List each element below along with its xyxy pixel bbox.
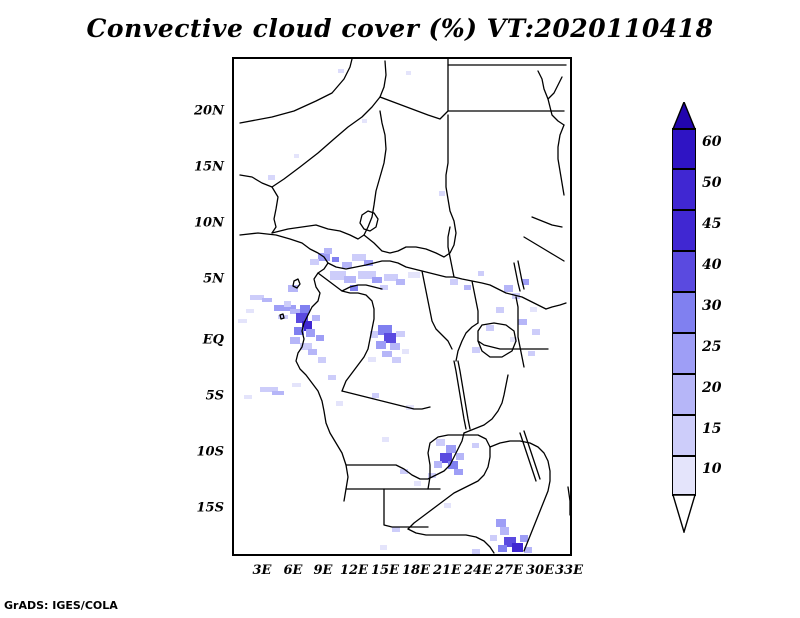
- colorbar-band-50-60: [672, 128, 696, 169]
- colorbar-tick-45: [672, 209, 696, 211]
- plot-frame: [232, 57, 572, 556]
- colorbar-band-below-10: [672, 456, 696, 496]
- x-tick-18e: 18E: [402, 563, 430, 578]
- map-plot-area: [232, 57, 572, 556]
- colorbar-tick-25: [672, 332, 696, 334]
- y-tick-15n: 15N: [178, 160, 224, 175]
- colorbar-band-25-30: [672, 292, 696, 333]
- colorbar-tick-10: [672, 455, 696, 457]
- y-tick-eq: EQ: [178, 333, 224, 348]
- colorbar-band-10-15: [672, 415, 696, 456]
- colorbar-label-25: 25: [702, 339, 721, 355]
- colorbar-label-50: 50: [702, 175, 721, 191]
- colorbar-bottom-arrow: [672, 495, 696, 533]
- colorbar-top-arrow: [672, 102, 696, 130]
- x-tick-3e: 3E: [253, 563, 272, 578]
- colorbar-band-40-45: [672, 210, 696, 251]
- colorbar-tick-50: [672, 168, 696, 170]
- y-tick-20n: 20N: [178, 104, 224, 119]
- y-tick-5s: 5S: [178, 389, 224, 404]
- x-tick-6e: 6E: [284, 563, 303, 578]
- colorbar-label-40: 40: [702, 257, 721, 273]
- x-tick-33e: 33E: [555, 563, 583, 578]
- y-tick-10n: 10N: [178, 216, 224, 231]
- colorbar-label-30: 30: [702, 298, 721, 314]
- colorbar-label-15: 15: [702, 421, 721, 437]
- colorbar-tick-15: [672, 414, 696, 416]
- x-tick-21e: 21E: [433, 563, 461, 578]
- grads-attribution: GrADS: IGES/COLA: [4, 599, 118, 612]
- x-tick-30e: 30E: [526, 563, 554, 578]
- colorbar-tick-60: [672, 128, 696, 130]
- y-tick-15s: 15S: [178, 501, 224, 516]
- colorbar-label-60: 60: [702, 134, 721, 150]
- y-tick-10s: 10S: [178, 445, 224, 460]
- x-tick-27e: 27E: [495, 563, 523, 578]
- colorbar-tick-40: [672, 250, 696, 252]
- x-tick-24e: 24E: [464, 563, 492, 578]
- colorbar-label-10: 10: [702, 461, 721, 477]
- colorbar-legend: 60 50 45 40 30 25 20 15 10: [672, 128, 696, 496]
- colorbar-band-15-20: [672, 374, 696, 415]
- colorbar-label-20: 20: [702, 380, 721, 396]
- colorbar-tick-30: [672, 291, 696, 293]
- colorbar-label-45: 45: [702, 216, 721, 232]
- x-tick-15e: 15E: [371, 563, 399, 578]
- page-title: Convective cloud cover (%) VT:2020110418: [0, 14, 800, 43]
- x-tick-9e: 9E: [314, 563, 333, 578]
- colorbar-band-45-50: [672, 169, 696, 210]
- colorbar-band-20-25: [672, 333, 696, 374]
- colorbar-band-30-40: [672, 251, 696, 292]
- x-tick-12e: 12E: [340, 563, 368, 578]
- colorbar-tick-20: [672, 373, 696, 375]
- y-tick-5n: 5N: [178, 272, 224, 287]
